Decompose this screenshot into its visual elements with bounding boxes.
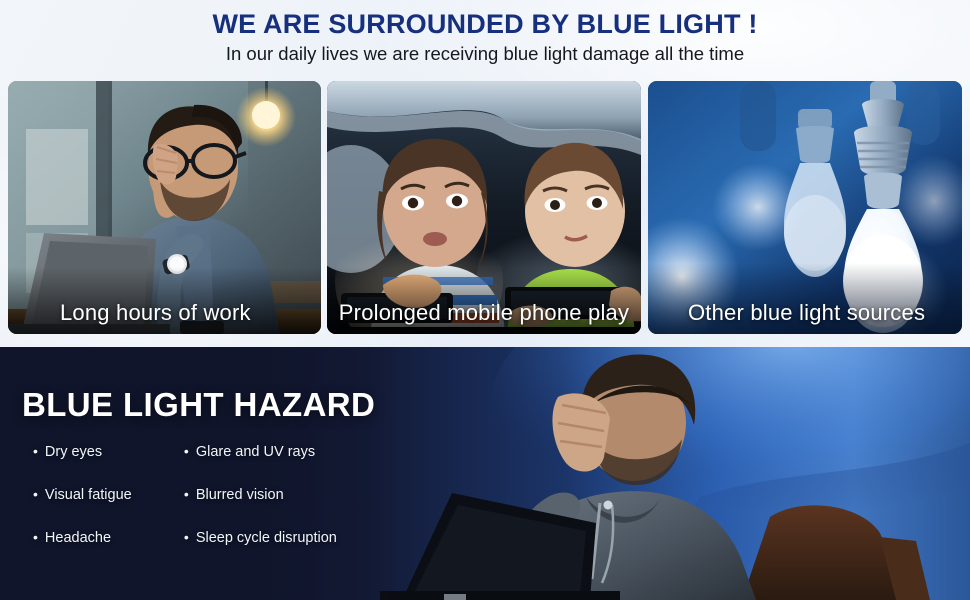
bullet-icon: • bbox=[33, 530, 38, 544]
hazard-item-label: Glare and UV rays bbox=[196, 444, 315, 460]
page-subtitle: In our daily lives we are receiving blue… bbox=[0, 39, 970, 65]
hazard-item: • Sleep cycle disruption bbox=[182, 530, 442, 546]
photo-kids-phones bbox=[327, 81, 641, 334]
hazard-title: BLUE LIGHT HAZARD bbox=[22, 386, 375, 424]
hazard-row: • Dry eyes • Glare and UV rays bbox=[22, 444, 442, 487]
photo-panel-row: Long hours of work bbox=[0, 81, 970, 334]
hazard-item-label: Headache bbox=[45, 530, 111, 546]
photo-blue-bulbs bbox=[648, 81, 962, 334]
hazard-item-label: Sleep cycle disruption bbox=[196, 530, 337, 546]
hazard-item-label: Dry eyes bbox=[45, 444, 102, 460]
photo-office-worker bbox=[8, 81, 321, 334]
panel-caption: Prolonged mobile phone play bbox=[327, 300, 641, 326]
hazard-item: • Dry eyes bbox=[22, 444, 182, 460]
bullet-icon: • bbox=[184, 530, 189, 544]
hazard-item: • Headache bbox=[22, 530, 182, 546]
hazard-item: • Blurred vision bbox=[182, 487, 442, 503]
page-title: WE ARE SURROUNDED BY BLUE LIGHT ! bbox=[0, 0, 970, 39]
bullet-icon: • bbox=[184, 444, 189, 458]
hazard-item-label: Visual fatigue bbox=[45, 487, 132, 503]
hazard-item: • Glare and UV rays bbox=[182, 444, 442, 460]
bullet-icon: • bbox=[33, 444, 38, 458]
panel-caption: Long hours of work bbox=[8, 300, 321, 326]
hazard-row: • Headache • Sleep cycle disruption bbox=[22, 530, 442, 573]
panel-long-hours-of-work: Long hours of work bbox=[8, 81, 321, 334]
hazard-list: • Dry eyes • Glare and UV rays • Visual … bbox=[22, 444, 442, 573]
bullet-icon: • bbox=[184, 487, 189, 501]
panel-prolonged-mobile-phone-play: Prolonged mobile phone play bbox=[327, 81, 641, 334]
hazard-item: • Visual fatigue bbox=[22, 487, 182, 503]
panel-other-blue-light-sources: Other blue light sources bbox=[648, 81, 962, 334]
bullet-icon: • bbox=[33, 487, 38, 501]
panel-caption: Other blue light sources bbox=[648, 300, 962, 326]
hazard-item-label: Blurred vision bbox=[196, 487, 284, 503]
blue-light-infographic-banner: WE ARE SURROUNDED BY BLUE LIGHT ! In our… bbox=[0, 0, 970, 600]
header-block: WE ARE SURROUNDED BY BLUE LIGHT ! In our… bbox=[0, 0, 970, 65]
hazard-row: • Visual fatigue • Blurred vision bbox=[22, 487, 442, 530]
hazard-section: BLUE LIGHT HAZARD • Dry eyes • Glare and… bbox=[0, 347, 970, 600]
